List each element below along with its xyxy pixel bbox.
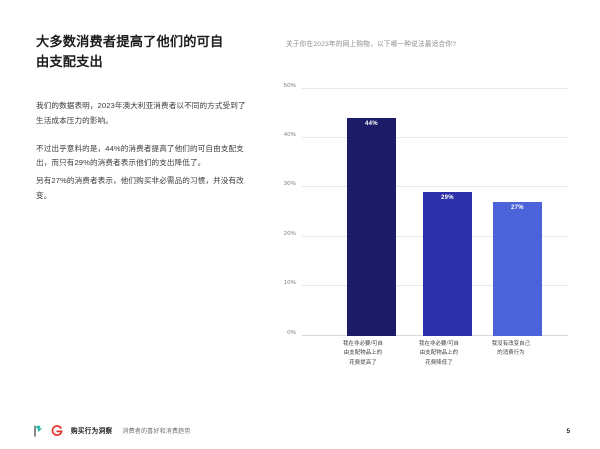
category-line: 花费提高了 [328, 359, 398, 368]
footer-subtitle: 消费者的喜好和消费趋势 [122, 426, 190, 435]
category-line: 我没有改变自己 [476, 340, 546, 349]
chart-bars: 44% 29% 27% [302, 88, 568, 336]
body-paragraph-1: 我们的数据表明，2023年澳大利亚消费者以不同的方式受到了生活成本压力的影响。 [36, 99, 248, 129]
y-axis-tick: 40% [272, 132, 296, 138]
category-line: 由支配物品上的 [328, 349, 398, 358]
bar-value-label: 29% [423, 195, 472, 201]
page-title: 大多数消费者提高了他们的可自由支配支出 [36, 32, 236, 73]
chart-category-labels: 我在非必要/可自 由支配物品上的 花费提高了 我在非必要/可自 由支配物品上的 … [302, 340, 568, 386]
category-line: 花费降低了 [404, 359, 474, 368]
chart-panel: 关于你在2023年的网上购物，以下哪一种说法最适合你? 50% 40% 30% … [272, 34, 572, 389]
page-number: 5 [566, 428, 570, 435]
bar-value-label: 27% [493, 205, 542, 211]
y-axis-tick: 10% [272, 280, 296, 286]
x-axis-category-label: 我在非必要/可自 由支配物品上的 花费提高了 [328, 340, 398, 368]
y-axis-tick: 20% [272, 231, 296, 237]
body-paragraph-3: 另有27%的消费者表示，他们购买非必需品的习惯，并没有改变。 [36, 174, 248, 204]
brand-g-icon [51, 424, 63, 436]
left-text-column: 大多数消费者提高了他们的可自由支配支出 我们的数据表明，2023年澳大利亚消费者… [36, 32, 248, 217]
slide-canvas: 大多数消费者提高了他们的可自由支配支出 我们的数据表明，2023年澳大利亚消费者… [0, 0, 600, 449]
y-axis-tick: 0% [272, 330, 296, 336]
body-paragraph-2: 不过出乎意料的是，44%的消费者提高了他们的可自由支配支出，而只有29%的消费者… [36, 142, 248, 172]
category-line: 我在非必要/可自 [404, 340, 474, 349]
bar-series-item[interactable]: 44% [347, 118, 396, 336]
bar-value-label: 44% [347, 121, 396, 127]
y-axis-tick: 30% [272, 181, 296, 187]
flag-quote-icon [34, 424, 45, 436]
bar-series-item[interactable]: 29% [423, 192, 472, 336]
category-line: 由支配物品上的 [404, 349, 474, 358]
footer-title: 购买行为洞察 [71, 425, 112, 435]
category-line: 的消费行为 [476, 349, 546, 358]
chart-title: 关于你在2023年的网上购物，以下哪一种说法最适合你? [286, 40, 572, 49]
footer-brand-group: 购买行为洞察 消费者的喜好和消费趋势 [34, 424, 191, 436]
x-axis-category-label: 我没有改变自己 的消费行为 [476, 340, 546, 359]
bar-series-item[interactable]: 27% [493, 202, 542, 336]
y-axis-tick: 50% [272, 83, 296, 89]
category-line: 我在非必要/可自 [328, 340, 398, 349]
x-axis-category-label: 我在非必要/可自 由支配物品上的 花费降低了 [404, 340, 474, 368]
chart-plot-area: 50% 40% 30% 20% 10% [272, 88, 572, 390]
slide-footer: 购买行为洞察 消费者的喜好和消费趋势 5 [0, 405, 600, 449]
